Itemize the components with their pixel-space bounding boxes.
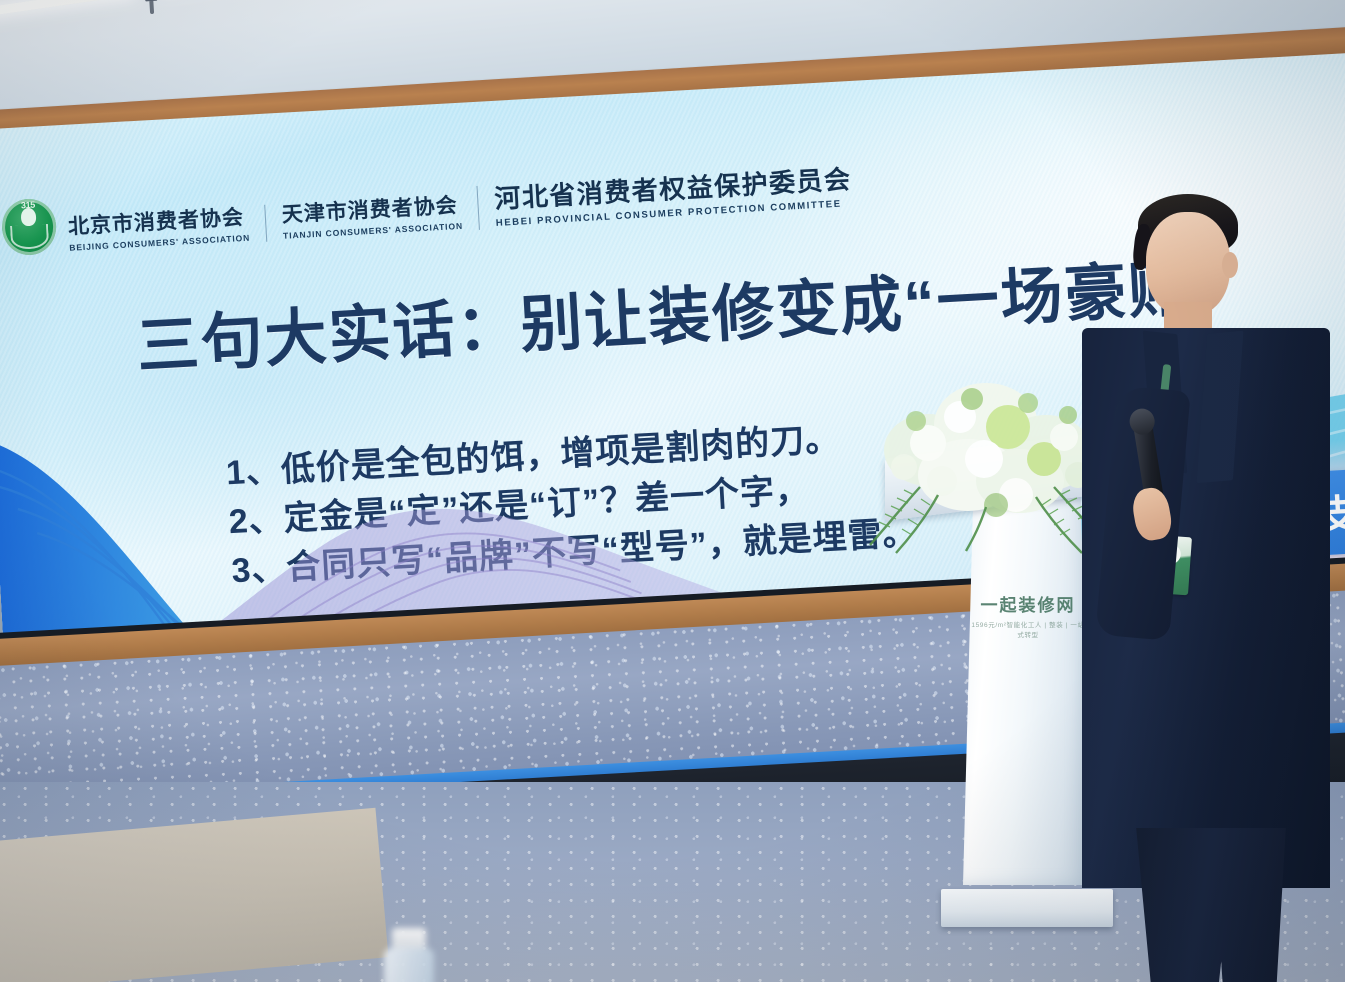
- logo-315-text: 315: [21, 200, 35, 211]
- podium-brand-subtext: 1596元/m²智能化工人 | 整装 | 一站式转型: [969, 619, 1087, 639]
- speaker-ear: [1222, 252, 1238, 278]
- podium-base: [941, 889, 1113, 927]
- bottle-cap: [392, 928, 426, 950]
- logo-315-icon: 315: [1, 198, 58, 257]
- bottle-body: [384, 948, 434, 982]
- water-bottle: [378, 928, 440, 982]
- flower-arrangement: [868, 355, 1118, 555]
- conference-stage-photo: 315 北京市消费者协会 BEIJING CONSUMERS' ASSOCIAT…: [0, 0, 1345, 982]
- speaker-trousers: [1126, 828, 1296, 982]
- fire-sprinkler-icon: [145, 0, 158, 14]
- podium-brand-label: 一起装修网: [969, 591, 1087, 616]
- speaker-person: [1090, 188, 1345, 948]
- ceiling-light-strip-secondary: [0, 0, 132, 32]
- speaker-head: [1146, 212, 1230, 316]
